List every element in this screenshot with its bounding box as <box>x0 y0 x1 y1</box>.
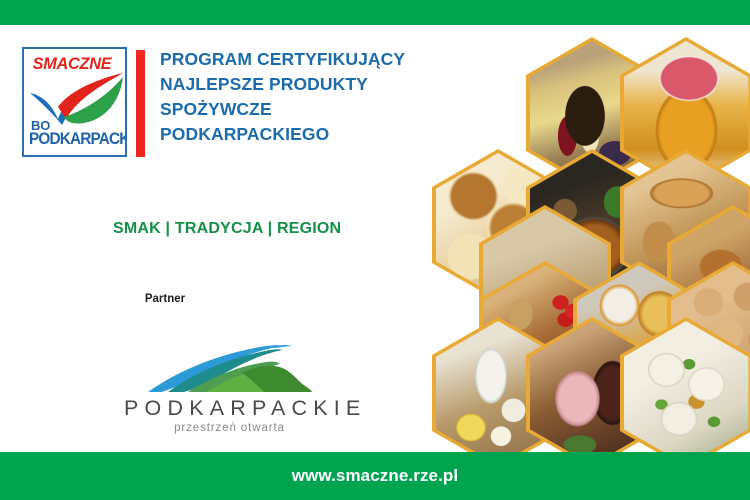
honeycomb-food-collage <box>418 25 750 452</box>
bottom-accent-bar: www.smaczne.rze.pl <box>0 452 750 500</box>
tagline: SMAK | TRADYCJA | REGION <box>113 220 341 238</box>
podkarpackie-swoosh-icon <box>146 340 314 398</box>
podkarpackie-wordmark: PODKARPACKIE <box>118 396 340 421</box>
logo-text-podkarpackie: PODKARPACKIE <box>29 130 127 149</box>
smaczne-bo-podkarpackie-logo: SMACZNE BO PODKARPACKIE <box>22 47 127 157</box>
top-accent-bar <box>0 0 750 25</box>
headline-line-1: PROGRAM CERTYFIKUJĄCY <box>160 47 430 72</box>
headline-line-2: NAJLEPSZE PRODUKTY <box>160 72 430 97</box>
podkarpackie-partner-logo: PODKARPACKIE przestrzeń otwarta <box>118 340 340 440</box>
website-url: www.smaczne.rze.pl <box>292 466 459 486</box>
content-panel: SMACZNE BO PODKARPACKIE PROGRAM CERTYFIK… <box>0 25 430 452</box>
podkarpackie-tagline: przestrzeń otwarta <box>118 422 340 434</box>
headline-line-3: SPOŻYWCZE <box>160 97 430 122</box>
page-title: PROGRAM CERTYFIKUJĄCY NAJLEPSZE PRODUKTY… <box>160 47 430 146</box>
partner-label: Partner <box>0 293 330 305</box>
red-divider-rule <box>136 50 145 157</box>
headline-line-4: PODKARPACKIEGO <box>160 122 430 147</box>
